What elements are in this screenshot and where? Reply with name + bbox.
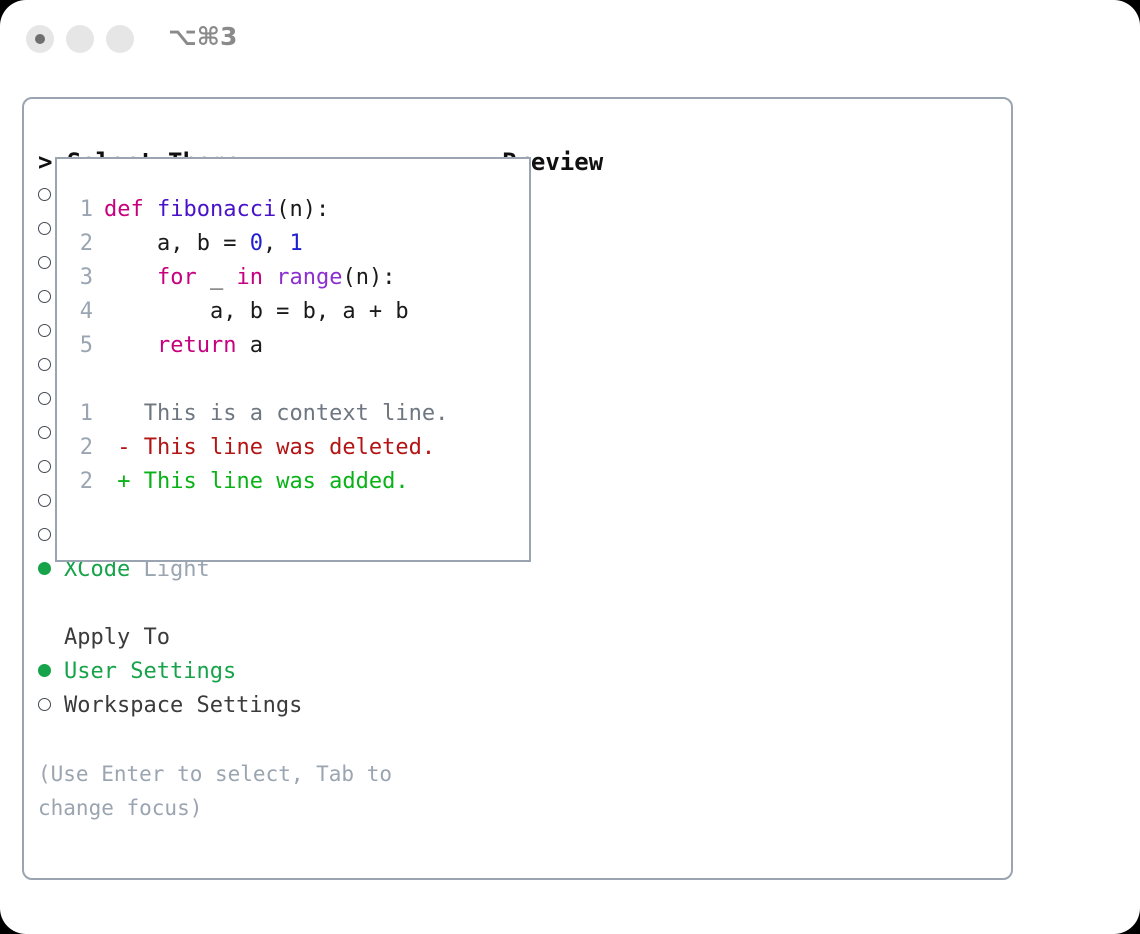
line-number: 1 bbox=[67, 397, 93, 431]
radio-glyph bbox=[38, 698, 51, 711]
code-line: 4 a, b = b, a + b bbox=[67, 295, 523, 329]
code-line: 2 a, b = 0, 1 bbox=[67, 227, 523, 261]
diff-text: This line was deleted. bbox=[131, 435, 436, 460]
code-token: a, b = b, a + b bbox=[104, 299, 409, 324]
line-number: 1 bbox=[67, 193, 93, 227]
radio-glyph bbox=[38, 562, 51, 575]
radio-glyph bbox=[38, 460, 51, 473]
radio-glyph bbox=[38, 664, 51, 677]
preview-box: 1def fibonacci(n):2 a, b = 0, 13 for _ i… bbox=[55, 157, 531, 562]
code-token: def bbox=[104, 197, 144, 222]
code-token: 1 bbox=[289, 231, 302, 256]
line-number: 2 bbox=[67, 465, 93, 499]
code-token: a bbox=[236, 333, 263, 358]
code-token: return bbox=[157, 333, 236, 358]
radio-glyph bbox=[38, 290, 51, 303]
diff-line-del: 2 - This line was deleted. bbox=[67, 431, 523, 465]
line-number: 5 bbox=[67, 329, 93, 363]
preview-column: Preview bbox=[502, 145, 1002, 179]
diff-sign: + bbox=[104, 469, 131, 494]
preview-heading: Preview bbox=[502, 145, 1002, 179]
radio-glyph bbox=[38, 358, 51, 371]
diff-sign bbox=[104, 401, 131, 426]
code-token: (n): bbox=[276, 197, 329, 222]
radio-glyph bbox=[38, 222, 51, 235]
code-token: range bbox=[276, 265, 342, 290]
code-line: 3 for _ in range(n): bbox=[67, 261, 523, 295]
code-token: for bbox=[157, 265, 197, 290]
code-blank-line bbox=[67, 363, 523, 397]
radio-glyph bbox=[38, 324, 51, 337]
apply-option-label: Workspace Settings bbox=[64, 693, 302, 718]
diff-text: This is a context line. bbox=[131, 401, 449, 426]
code-token: (n): bbox=[342, 265, 395, 290]
radio-glyph bbox=[38, 392, 51, 405]
code-token: _ bbox=[197, 265, 237, 290]
line-number: 2 bbox=[67, 227, 93, 261]
code-token: 0 bbox=[250, 231, 263, 256]
code-token bbox=[263, 265, 276, 290]
theme-picker-panel: > Select Theme ANSI DarkAtom One DarkAyu… bbox=[22, 97, 1013, 880]
title-bar: ⌥⌘3 bbox=[0, 0, 1140, 78]
window-button-active-indicator bbox=[35, 34, 45, 44]
radio-glyph bbox=[38, 256, 51, 269]
line-number: 2 bbox=[67, 431, 93, 465]
apply-option-label: User Settings bbox=[64, 659, 236, 684]
code-token: , bbox=[263, 231, 290, 256]
line-number: 4 bbox=[67, 295, 93, 329]
window-button-2[interactable] bbox=[66, 25, 94, 53]
code-token bbox=[104, 333, 157, 358]
radio-glyph bbox=[38, 426, 51, 439]
code-token: in bbox=[236, 265, 263, 290]
window-button-3[interactable] bbox=[106, 25, 134, 53]
line-number: 3 bbox=[67, 261, 93, 295]
radio-glyph bbox=[38, 528, 51, 541]
apply-option-workspace-settings[interactable]: Workspace Settings bbox=[38, 689, 478, 723]
window-button-active[interactable] bbox=[26, 25, 54, 53]
code-token: fibonacci bbox=[157, 197, 276, 222]
radio-unselected-icon bbox=[38, 689, 64, 723]
apply-to-heading: Apply To bbox=[38, 621, 478, 655]
code-line: 1def fibonacci(n): bbox=[67, 193, 523, 227]
code-line: 5 return a bbox=[67, 329, 523, 363]
app-window: ⌥⌘3 > Select Theme ANSI DarkAtom One Dar… bbox=[0, 0, 1140, 934]
apply-option-user-settings[interactable]: User Settings bbox=[38, 655, 478, 689]
code-sample: 1def fibonacci(n):2 a, b = 0, 13 for _ i… bbox=[67, 193, 523, 499]
radio-glyph bbox=[38, 188, 51, 201]
keyboard-shortcut-label: ⌥⌘3 bbox=[168, 22, 237, 51]
hint-spacer bbox=[38, 723, 478, 757]
diff-line-ctx: 1 This is a context line. bbox=[67, 397, 523, 431]
diff-line-add: 2 + This line was added. bbox=[67, 465, 523, 499]
radio-glyph bbox=[38, 494, 51, 507]
keyboard-hint-text: (Use Enter to select, Tab to change focu… bbox=[38, 757, 438, 825]
code-token: a, b = bbox=[104, 231, 250, 256]
diff-text: This line was added. bbox=[131, 469, 409, 494]
radio-selected-icon bbox=[38, 655, 64, 689]
code-token bbox=[144, 197, 157, 222]
diff-sign: - bbox=[104, 435, 131, 460]
apply-to-option-list: User SettingsWorkspace Settings bbox=[38, 655, 478, 723]
code-token bbox=[104, 265, 157, 290]
list-spacer bbox=[38, 587, 478, 621]
